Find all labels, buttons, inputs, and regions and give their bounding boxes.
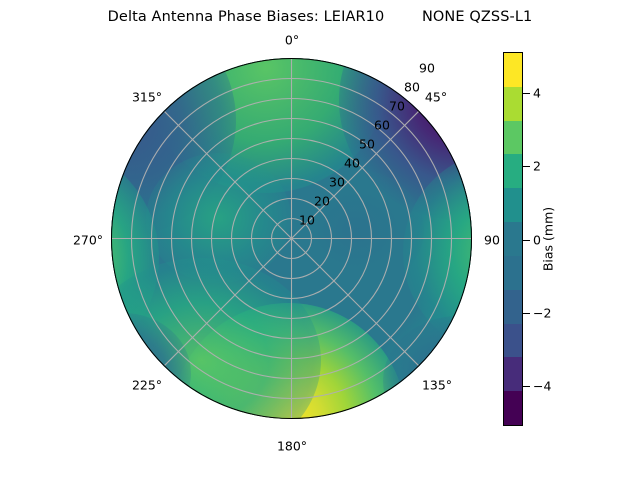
chart-title: Delta Antenna Phase Biases: LEIAR10 NONE… — [0, 9, 640, 25]
colorbar-tick-4 — [523, 93, 530, 94]
r-tick-40: 40 — [344, 156, 360, 171]
contour-blob-northeast-inner-teal — [289, 170, 424, 290]
contour-blob-midwest-green — [146, 153, 291, 283]
colorbar-ticklabel-2: 2 — [533, 159, 541, 174]
colorbar-tick-2 — [523, 166, 530, 167]
colorbar-tick-neg4 — [523, 386, 530, 387]
polar-axes[interactable]: 10 20 30 40 50 60 70 80 90 — [111, 58, 472, 419]
colorbar[interactable] — [503, 52, 523, 426]
r-tick-60: 60 — [374, 118, 390, 133]
colorbar-ticklabel-neg2: −2 — [533, 306, 551, 321]
r-tick-90: 90 — [419, 61, 435, 76]
colorbar-band — [504, 222, 522, 256]
colorbar-ticklabel-4: 4 — [533, 86, 541, 101]
theta-tick-270: 270° — [73, 233, 103, 248]
colorbar-axis-label: Bias (mm) — [541, 207, 556, 271]
theta-tick-225: 225° — [132, 378, 162, 393]
r-tick-50: 50 — [359, 137, 375, 152]
theta-tick-45: 45° — [425, 90, 447, 105]
colorbar-band — [504, 53, 522, 87]
colorbar-ticklabel-neg4: −4 — [533, 379, 551, 394]
colorbar-band — [504, 391, 522, 425]
colorbar-band — [504, 357, 522, 391]
theta-tick-315: 315° — [132, 90, 162, 105]
theta-tick-135: 135° — [422, 378, 452, 393]
colorbar-tick-neg2 — [523, 313, 530, 314]
theta-tick-90: 90 — [484, 233, 500, 248]
colorbar-tick-0 — [523, 240, 530, 241]
colorbar-band — [504, 256, 522, 290]
figure-canvas: Delta Antenna Phase Biases: LEIAR10 NONE… — [0, 0, 640, 480]
r-tick-70: 70 — [389, 99, 405, 114]
theta-tick-0: 0° — [285, 33, 299, 48]
r-tick-30: 30 — [329, 175, 345, 190]
colorbar-band — [504, 324, 522, 358]
colorbar-band — [504, 87, 522, 121]
r-tick-20: 20 — [314, 194, 330, 209]
colorbar-band — [504, 188, 522, 222]
theta-tick-180: 180° — [277, 439, 307, 454]
colorbar-band — [504, 290, 522, 324]
contour-field — [111, 58, 472, 419]
colorbar-band — [504, 154, 522, 188]
r-tick-10: 10 — [299, 213, 315, 228]
colorbar-band — [504, 121, 522, 155]
r-tick-80: 80 — [404, 80, 420, 95]
